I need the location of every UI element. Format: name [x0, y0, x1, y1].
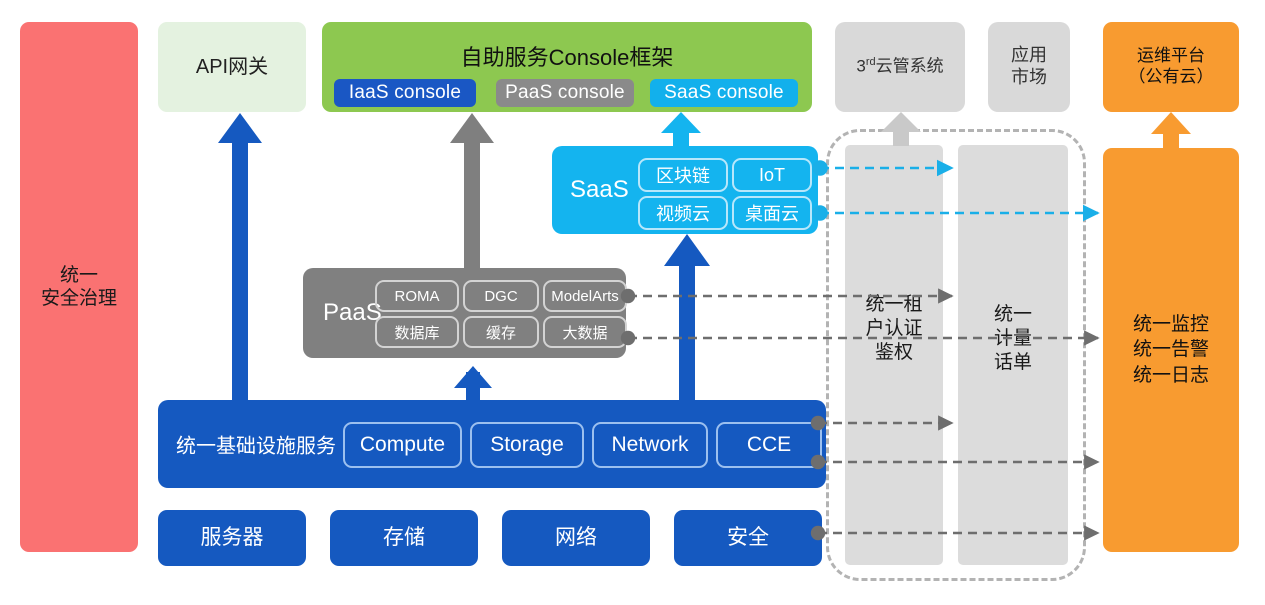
infra-item-storage[interactable]: Storage — [470, 422, 584, 468]
third-party-superscript: rd — [866, 56, 876, 68]
paas-item-roma[interactable]: ROMA — [375, 280, 459, 312]
saas-item-iot[interactable]: IoT — [732, 158, 812, 192]
paas-item-dgc[interactable]: DGC — [463, 280, 539, 312]
billing-line-2: 计量 — [994, 328, 1032, 349]
security-line-2: 安全治理 — [41, 288, 117, 309]
infra-item-network[interactable]: Network — [592, 422, 708, 468]
self-service-console-frame[interactable]: 自助服务Console框架 IaaS console PaaS console … — [322, 22, 812, 112]
saas-item-desktop-cloud[interactable]: 桌面云 — [732, 196, 812, 230]
arrow-infra-to-paas — [454, 366, 492, 402]
security-line-1: 统一 — [60, 265, 98, 286]
infrastructure-label: 统一基础设施服务 — [176, 430, 336, 459]
monitoring-line-2: 统一告警 — [1133, 339, 1209, 360]
app-market-box[interactable]: 应用 市场 — [988, 22, 1070, 112]
unified-auth-column[interactable]: 统一租 户认证 鉴权 — [845, 145, 943, 565]
monitoring-line-1: 统一监控 — [1133, 314, 1209, 335]
console-frame-title: 自助服务Console框架 — [322, 40, 812, 72]
saas-layer-block[interactable]: SaaS 区块链 IoT 视频云 桌面云 — [552, 146, 818, 234]
architecture-diagram: 统一 安全治理 API网关 自助服务Console框架 IaaS console… — [0, 0, 1265, 605]
arrow-infra-to-api-gateway — [218, 113, 262, 402]
billing-line-1: 统一 — [994, 304, 1032, 325]
arrow-saas-to-saas-console — [661, 112, 701, 150]
paas-console-chip[interactable]: PaaS console — [496, 79, 634, 107]
auth-line-1: 统一租 — [865, 294, 922, 315]
api-gateway-label: API网关 — [196, 55, 268, 79]
paas-item-modelarts[interactable]: ModelArts — [543, 280, 627, 312]
infra-item-cce[interactable]: CCE — [716, 422, 822, 468]
paas-item-cache[interactable]: 缓存 — [463, 316, 539, 348]
unified-monitoring-column[interactable]: 统一监控 统一告警 统一日志 — [1103, 148, 1239, 552]
saas-item-blockchain[interactable]: 区块链 — [638, 158, 728, 192]
auth-line-3: 鉴权 — [875, 342, 913, 363]
infra-item-compute[interactable]: Compute — [343, 422, 462, 468]
saas-item-video-cloud[interactable]: 视频云 — [638, 196, 728, 230]
resource-box-server[interactable]: 服务器 — [158, 510, 306, 566]
paas-item-database[interactable]: 数据库 — [375, 316, 459, 348]
arrow-infra-to-saas — [664, 234, 710, 402]
paas-item-bigdata[interactable]: 大数据 — [543, 316, 627, 348]
api-gateway-box[interactable]: API网关 — [158, 22, 306, 112]
ops-platform-line-1: 运维平台 — [1137, 46, 1205, 65]
unified-billing-column[interactable]: 统一 计量 话单 — [958, 145, 1068, 565]
third-party-label: 3rd云管系统 — [856, 56, 943, 77]
security-governance-pillar[interactable]: 统一 安全治理 — [20, 22, 138, 552]
unified-infrastructure-bar[interactable]: 统一基础设施服务 Compute Storage Network CCE — [158, 400, 826, 488]
arrow-monitoring-to-ops-platform — [1151, 112, 1191, 148]
resource-box-network[interactable]: 网络 — [502, 510, 650, 566]
arrow-paas-to-console — [450, 113, 494, 270]
app-market-line-2: 市场 — [1011, 67, 1047, 87]
resource-box-security[interactable]: 安全 — [674, 510, 822, 566]
paas-layer-label: PaaS — [323, 299, 382, 327]
third-party-cloud-management-box[interactable]: 3rd云管系统 — [835, 22, 965, 112]
resource-box-storage[interactable]: 存储 — [330, 510, 478, 566]
ops-platform-box[interactable]: 运维平台 （公有云） — [1103, 22, 1239, 112]
auth-line-2: 户认证 — [865, 318, 922, 339]
saas-console-chip[interactable]: SaaS console — [650, 79, 798, 107]
monitoring-line-3: 统一日志 — [1133, 365, 1209, 386]
iaas-console-chip[interactable]: IaaS console — [334, 79, 476, 107]
saas-layer-label: SaaS — [570, 176, 629, 204]
ops-platform-line-2: （公有云） — [1129, 67, 1214, 86]
paas-layer-block[interactable]: PaaS ROMA DGC ModelArts 数据库 缓存 大数据 — [303, 268, 626, 358]
billing-line-3: 话单 — [994, 352, 1032, 373]
app-market-line-1: 应用 — [1011, 45, 1047, 65]
